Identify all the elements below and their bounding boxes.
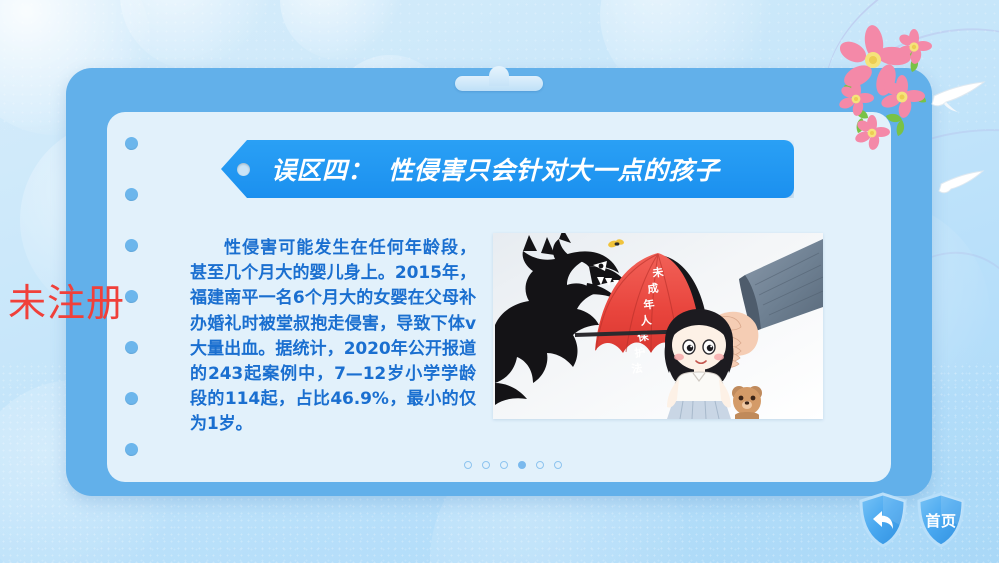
binder-dot: [125, 188, 138, 201]
binder-dot: [125, 137, 138, 150]
bokeh-circle: [280, 0, 400, 60]
pagination-dot-1[interactable]: [464, 461, 472, 469]
pagination-dot-6[interactable]: [554, 461, 562, 469]
svg-text:法: 法: [630, 361, 643, 376]
binder-dot: [125, 239, 138, 252]
watermark-text: 未注册: [8, 272, 125, 327]
binder-dot: [125, 290, 138, 303]
frame-handle-decoration: [455, 76, 543, 91]
binder-dot: [125, 443, 138, 456]
body-paragraph: 性侵害可能发生在任何年龄段，甚至几个月大的婴儿身上。2015年，福建南平一名6个…: [190, 236, 476, 438]
tag-hole-icon: [237, 163, 250, 176]
title-banner-text: 误区四： 性侵害只会针对大一点的孩子: [268, 147, 768, 191]
svg-text:护: 护: [633, 345, 646, 360]
teddy-bear: [732, 386, 762, 419]
home-button-label: 首页: [925, 510, 956, 531]
back-button[interactable]: [858, 492, 908, 548]
seagull-icon: [938, 170, 986, 205]
home-button[interactable]: 首页: [916, 492, 966, 548]
svg-text:成: 成: [646, 281, 659, 296]
girl-figure: [665, 309, 734, 419]
svg-text:年: 年: [642, 297, 655, 312]
bokeh-circle: [120, 0, 270, 70]
pagination-dot-4[interactable]: [518, 461, 526, 469]
title-main: 性侵害只会针对大一点的孩子: [388, 151, 720, 187]
pagination-dot-5[interactable]: [536, 461, 544, 469]
slide-canvas: 误区四： 性侵害只会针对大一点的孩子 性侵害可能发生在任何年龄段，甚至几个月大的…: [0, 0, 999, 563]
flower-small-2: [838, 81, 874, 117]
pagination-dot-2[interactable]: [482, 461, 490, 469]
binder-dot: [125, 341, 138, 354]
back-arrow-icon: [871, 509, 895, 531]
title-highlight: 误区四：: [268, 151, 376, 187]
pagination-dots[interactable]: [464, 461, 562, 469]
flower-decoration: [828, 24, 948, 159]
binder-dot: [125, 392, 138, 405]
pagination-dot-3[interactable]: [500, 461, 508, 469]
illustration-image: 未 成 年 人 保 护 法: [493, 233, 823, 419]
